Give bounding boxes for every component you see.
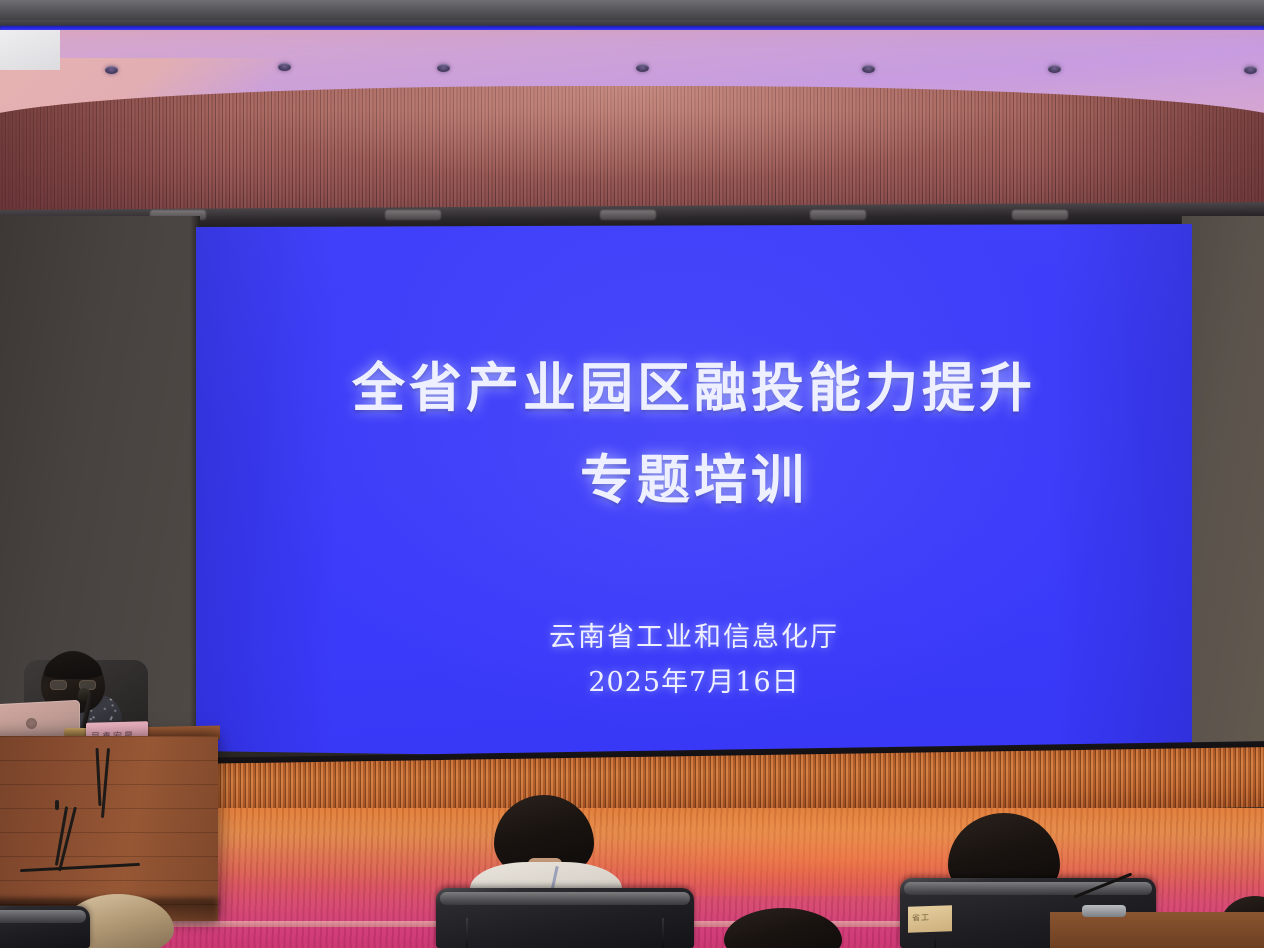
downlight-icon — [636, 64, 649, 72]
conference-hall-photo: 全省产业园区融投能力提升 专题培训 云南省工业和信息化厅 2025年7月16日 … — [0, 0, 1264, 948]
podium-wood-grain — [0, 736, 218, 921]
valance-spotlight-icon — [385, 210, 441, 220]
led-screen[interactable]: 全省产业园区融投能力提升 专题培训 云南省工业和信息化厅 2025年7月16日 — [196, 224, 1192, 769]
chair-seam — [662, 918, 664, 948]
laptop-logo-icon — [26, 718, 37, 729]
slide-title-line1: 全省产业园区融投能力提升 — [196, 346, 1192, 422]
audience-namecard: 省工 — [908, 905, 952, 933]
downlight-icon — [1244, 66, 1257, 74]
downlight-icon — [105, 66, 118, 74]
audience-chair — [436, 888, 694, 948]
audience-chair — [0, 906, 90, 948]
slide-date: 2025年7月16日 — [196, 660, 1192, 699]
ceiling-white-notch — [0, 30, 60, 70]
ceiling-dark-band — [0, 0, 1264, 22]
downlight-icon — [862, 65, 875, 73]
valance-spotlight-icon — [600, 210, 656, 220]
slide-organization: 云南省工业和信息化厅 — [196, 615, 1192, 654]
cable-connector — [55, 800, 59, 810]
podium-desk — [0, 736, 218, 921]
chair-seam — [466, 918, 468, 948]
speaker-glasses-icon — [50, 680, 96, 690]
downlight-icon — [278, 63, 291, 71]
slide-title-line2: 专题培训 — [196, 438, 1192, 514]
audience-table — [1050, 912, 1264, 948]
audience-microphone-base-icon — [1082, 905, 1126, 917]
audience-namecard-text: 省工 — [912, 912, 930, 924]
downlight-icon — [1048, 65, 1061, 73]
valance-spotlight-icon — [1012, 210, 1068, 220]
downlight-icon — [437, 64, 450, 72]
valance-spotlight-icon — [810, 210, 866, 220]
